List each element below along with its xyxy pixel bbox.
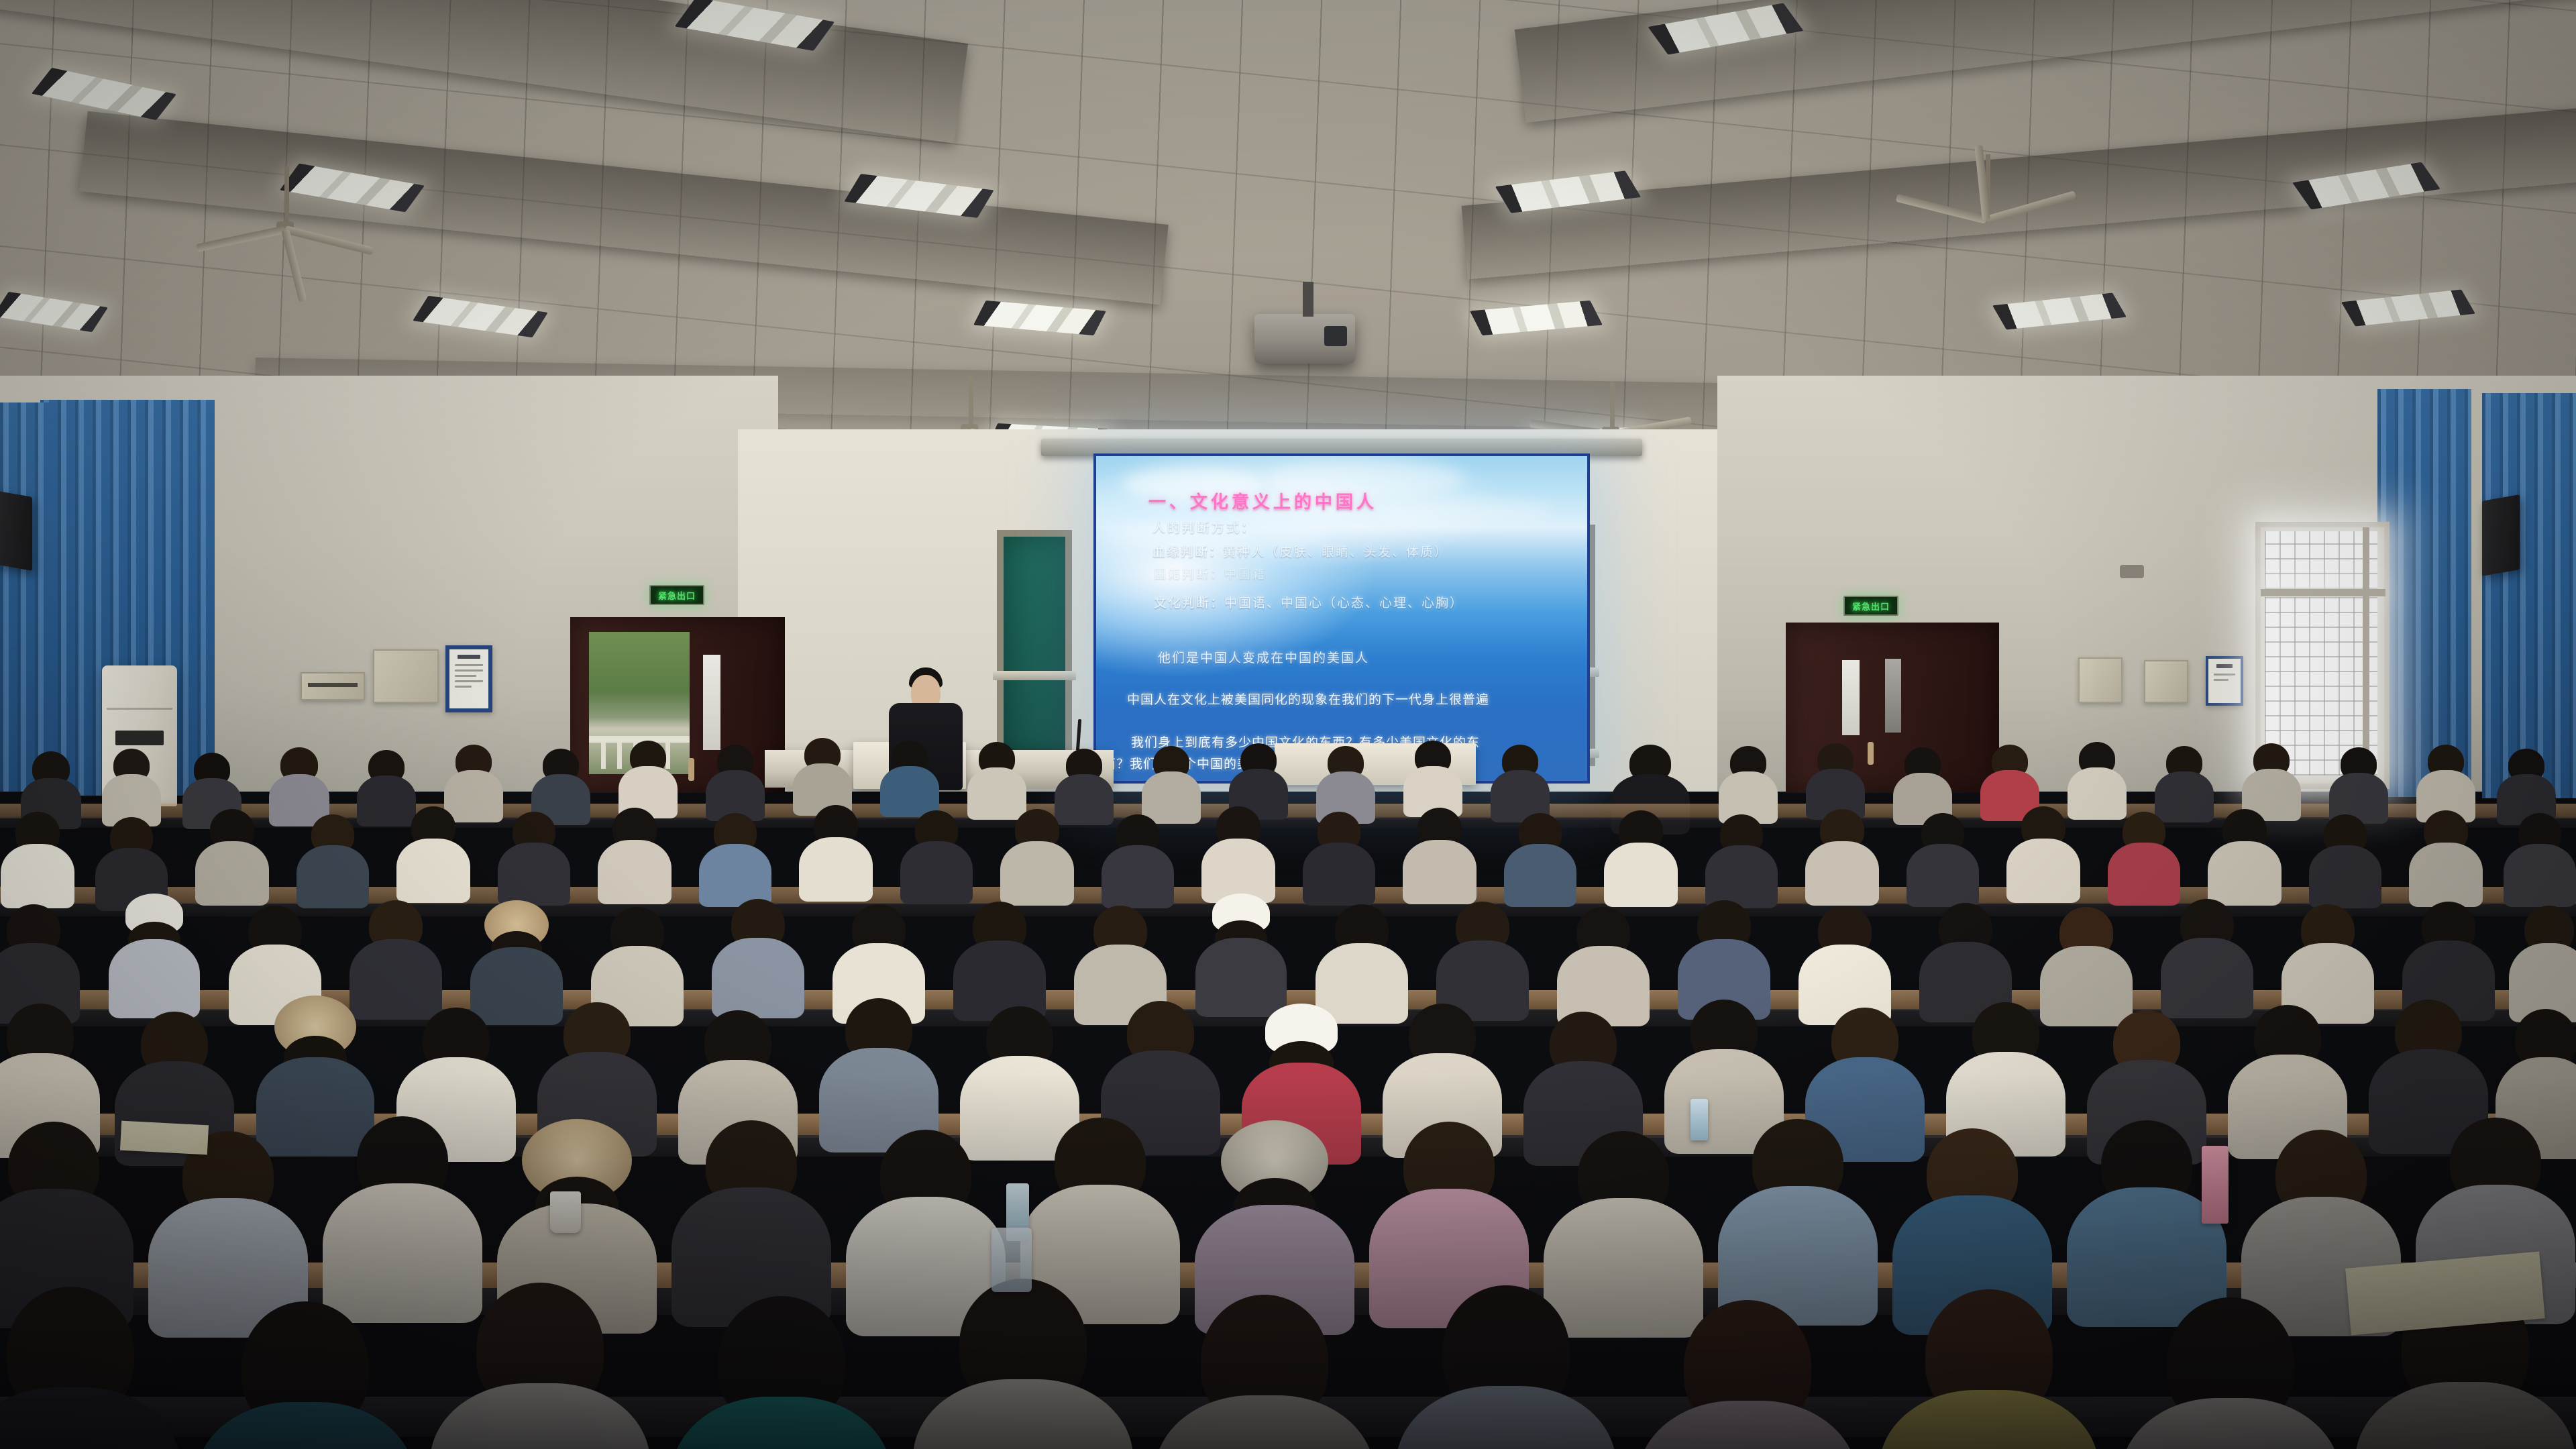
- audience-member: [1100, 814, 1175, 902]
- audience-member-front: [671, 1296, 892, 1449]
- audience-member: [2066, 742, 2128, 809]
- slide-line-5: 他们是中国人变成在中国的美国人: [1158, 648, 1369, 666]
- notice-text-line: [2214, 679, 2229, 681]
- audience-member: [101, 749, 162, 816]
- audience-member: [2308, 814, 2383, 902]
- wall-panel-box: [373, 649, 439, 703]
- notice-text-line: [455, 680, 483, 682]
- coat: [913, 1379, 1133, 1449]
- audience-member: [879, 741, 941, 808]
- audience-member: [1194, 898, 1288, 1012]
- wall-speaker-left: [0, 490, 32, 571]
- audience-member-front: [1395, 1285, 1617, 1449]
- wall-camera: [2120, 565, 2144, 578]
- projector-mount: [1303, 282, 1313, 317]
- slide-line-3: 国籍判断：中国籍: [1154, 565, 1267, 582]
- audience-member: [1805, 743, 1866, 810]
- glass-jar[interactable]: [991, 1228, 1032, 1292]
- audience-member: [2006, 806, 2081, 894]
- audience-member: [1717, 1119, 1878, 1320]
- coat: [1403, 840, 1477, 904]
- audience-member: [899, 810, 974, 898]
- audience-member: [470, 903, 563, 1017]
- audience-member: [396, 806, 471, 894]
- audience-member: [107, 898, 201, 1012]
- audience-member: [2207, 809, 2282, 896]
- coat: [2006, 839, 2080, 903]
- ceiling-projector: [1254, 314, 1355, 364]
- audience-member: [295, 814, 370, 902]
- coat: [712, 938, 804, 1018]
- coat: [1000, 841, 1074, 906]
- audience-member: [1503, 813, 1578, 900]
- notice-text-line: [455, 686, 472, 688]
- wall-panel-box: [2078, 657, 2123, 703]
- audience-member: [349, 900, 443, 1014]
- audience-member: [1905, 813, 1980, 900]
- audience-member: [617, 741, 679, 808]
- audience-member: [2502, 813, 2576, 900]
- utility-box-slot: [308, 683, 358, 686]
- coat: [699, 844, 771, 907]
- coat: [1, 844, 74, 908]
- coat: [900, 841, 973, 904]
- notebook-paper[interactable]: [120, 1121, 209, 1155]
- notice-text-line: [2214, 674, 2235, 676]
- audience-member: [1892, 747, 1953, 814]
- audience-member: [953, 902, 1046, 1016]
- coat: [2355, 1382, 2575, 1449]
- wall-notice-board: [445, 645, 492, 712]
- coat: [195, 1402, 415, 1449]
- coat: [498, 843, 570, 906]
- audience-member-front: [195, 1301, 416, 1449]
- audience-member: [711, 899, 805, 1013]
- water-bottle[interactable]: [1690, 1099, 1708, 1140]
- audience-member: [1140, 746, 1202, 813]
- notice-title-line: [2216, 664, 2233, 668]
- coat: [1638, 1401, 1858, 1449]
- audience-member: [20, 751, 82, 818]
- coat: [2409, 843, 2483, 907]
- coat: [1879, 1390, 2099, 1449]
- slide-heading: 一、文化意义上的中国人: [1148, 488, 1377, 513]
- coat: [0, 1387, 180, 1449]
- projector-lens: [1324, 326, 1347, 346]
- audience-member: [1489, 745, 1551, 812]
- audience-member: [530, 749, 592, 816]
- wall-panel-box: [2144, 660, 2188, 703]
- audience-member-front: [1878, 1289, 2100, 1449]
- audience-member: [94, 817, 169, 904]
- audience-member: [1315, 904, 1409, 1018]
- coat: [672, 1397, 892, 1449]
- wall-utility-box: [301, 672, 365, 700]
- coat: [195, 841, 269, 906]
- audience-member: [2415, 745, 2477, 812]
- thermos-bottle[interactable]: [2202, 1146, 2229, 1224]
- coat: [1907, 844, 1979, 907]
- exit-sign-left: 紧急出口: [649, 585, 704, 605]
- coat: [799, 837, 873, 902]
- audience-member: [792, 738, 853, 805]
- slide-line-6: 中国人在文化上被美国同化的现象在我们的下一代身上很普遍: [1127, 690, 1489, 708]
- audience-member: [0, 904, 80, 1018]
- audience-member: [1979, 745, 2041, 812]
- exit-sign-left-label: 紧急出口: [658, 589, 696, 602]
- audience-member: [2160, 899, 2254, 1013]
- audience-member: [698, 813, 773, 900]
- notice-text-line: [455, 669, 483, 672]
- wall-speaker-right: [2482, 494, 2520, 576]
- audience-member: [1436, 902, 1529, 1016]
- coat: [1705, 845, 1778, 908]
- audience-member: [1704, 814, 1779, 902]
- coat: [2121, 1398, 2341, 1449]
- slide-line-1: 人的判断方式：: [1152, 518, 1256, 536]
- ac-seam: [107, 708, 173, 710]
- coat: [2309, 845, 2381, 908]
- audience-member: [2402, 902, 2495, 1016]
- audience-member: [1556, 907, 1650, 1021]
- coat: [396, 839, 470, 903]
- coat: [109, 939, 200, 1018]
- audience-member: [818, 998, 939, 1146]
- audience-member: [798, 805, 873, 892]
- coat: [1155, 1395, 1375, 1449]
- audience-member: [496, 812, 572, 899]
- audience-member: [2328, 747, 2390, 814]
- coat: [1805, 841, 1879, 906]
- coat: [880, 766, 939, 817]
- slide-line-4: 文化判断：中国语、中国心（心态、心理、心胸）: [1154, 593, 1464, 611]
- lecture-hall-photo: 紧急出口 紧急出口: [0, 0, 2576, 1449]
- audience-member: [2408, 810, 2483, 898]
- coat: [2208, 841, 2282, 906]
- audience-member: [1315, 746, 1377, 813]
- audience-member: [1677, 900, 1771, 1014]
- coat: [1396, 1386, 1616, 1449]
- audience-member: [1301, 812, 1377, 899]
- coat: [2504, 844, 2576, 907]
- notice-title-line: [458, 655, 480, 659]
- notice-text-line: [455, 675, 476, 677]
- coat: [598, 840, 672, 904]
- audience-member: [1402, 808, 1477, 895]
- audience-member: [671, 1120, 832, 1322]
- audience-member: [0, 812, 75, 899]
- window-pane-upper: [2265, 531, 2377, 589]
- wall-notice-right: [2206, 656, 2243, 706]
- audience-member: [704, 745, 766, 812]
- audience-member: [2495, 749, 2557, 816]
- coat: [1604, 843, 1678, 907]
- paper-cup[interactable]: [550, 1191, 581, 1233]
- audience-member-front: [0, 1287, 181, 1449]
- audience-member-front: [1154, 1295, 1375, 1449]
- coat: [1102, 845, 1174, 908]
- audience-member: [1053, 749, 1115, 816]
- audience-member: [2281, 904, 2375, 1018]
- coat: [2108, 843, 2180, 906]
- audience-member-front: [2120, 1297, 2341, 1449]
- slide-line-2: 血缘判断：黄种人（皮肤、眼睛、头发、体质）: [1152, 542, 1448, 560]
- exit-sign-right: 紧急出口: [1843, 596, 1898, 616]
- audience-member: [597, 808, 672, 895]
- audience-member: [1798, 906, 1892, 1020]
- audience-member: [1402, 741, 1464, 808]
- audience-member: [1228, 743, 1289, 810]
- coat: [430, 1383, 650, 1449]
- audience-member: [1919, 903, 2012, 1017]
- audience-member: [443, 745, 504, 812]
- audience-member: [1201, 806, 1276, 894]
- audience-member: [1603, 810, 1678, 898]
- audience-member: [2241, 743, 2302, 810]
- audience-seating: [0, 711, 2576, 1449]
- audience-member: [268, 747, 330, 814]
- audience-member-front: [429, 1283, 651, 1449]
- coat: [1504, 844, 1576, 907]
- coat: [297, 845, 369, 908]
- audience-member: [1805, 809, 1880, 896]
- coat: [1303, 843, 1375, 906]
- exit-sign-right-label: 紧急出口: [1852, 600, 1890, 612]
- audience-member: [2106, 812, 2182, 899]
- audience-member: [966, 742, 1028, 809]
- notice-text-line: [455, 664, 483, 666]
- audience-member: [1945, 1002, 2066, 1150]
- chalk-tray-left: [993, 671, 1076, 680]
- audience-member-front: [912, 1279, 1134, 1449]
- audience-member-front: [1637, 1300, 1858, 1449]
- audience-member: [1000, 809, 1075, 896]
- audience-member: [2509, 906, 2576, 1020]
- audience-member: [195, 809, 270, 896]
- audience-member: [1717, 746, 1779, 813]
- audience-member: [2153, 746, 2215, 813]
